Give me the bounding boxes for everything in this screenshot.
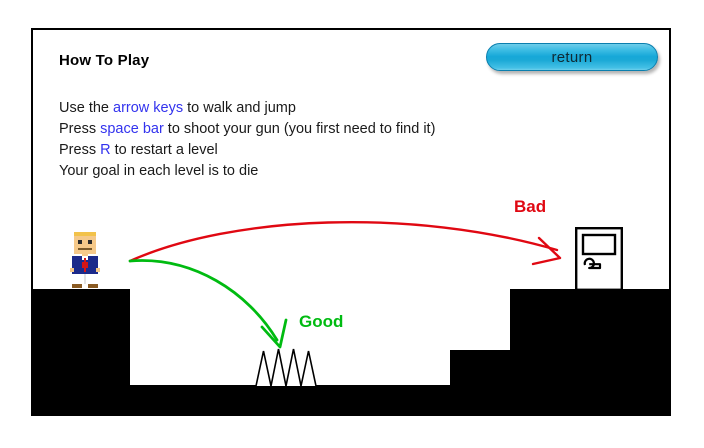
return-button-label: return [552, 49, 593, 66]
instruction-line: Use the arrow keys to walk and jump [59, 98, 435, 119]
instruction-post: to walk and jump [183, 100, 296, 116]
instruction-line: Press R to restart a level [59, 140, 435, 161]
instructions-list: Use the arrow keys to walk and jump Pres… [59, 98, 435, 182]
page-title: How To Play [59, 52, 149, 69]
instruction-key: R [100, 142, 110, 158]
spike-hazard-icon [255, 348, 319, 386]
annotation-label-good: Good [299, 312, 343, 332]
instruction-pre: Press [59, 121, 100, 137]
return-button[interactable]: return [486, 43, 658, 71]
instruction-pre: Press [59, 142, 100, 158]
annotation-label-bad: Bad [514, 197, 546, 217]
exit-door-icon [575, 227, 623, 291]
instruction-key: space bar [100, 121, 164, 137]
instruction-pre: Use the [59, 100, 113, 116]
instruction-pre: Your goal in each level is to die [59, 163, 258, 179]
instruction-key: arrow keys [113, 100, 183, 116]
instruction-line: Press space bar to shoot your gun (you f… [59, 119, 435, 140]
instruction-post: to shoot your gun (you first need to fin… [164, 121, 436, 137]
game-viewport: How To Play Use the arrow keys to walk a… [31, 28, 671, 416]
instruction-line: Your goal in each level is to die [59, 161, 435, 182]
player-character-sprite [66, 230, 104, 290]
instruction-post: to restart a level [111, 142, 218, 158]
terrain-right-platform [510, 289, 669, 416]
